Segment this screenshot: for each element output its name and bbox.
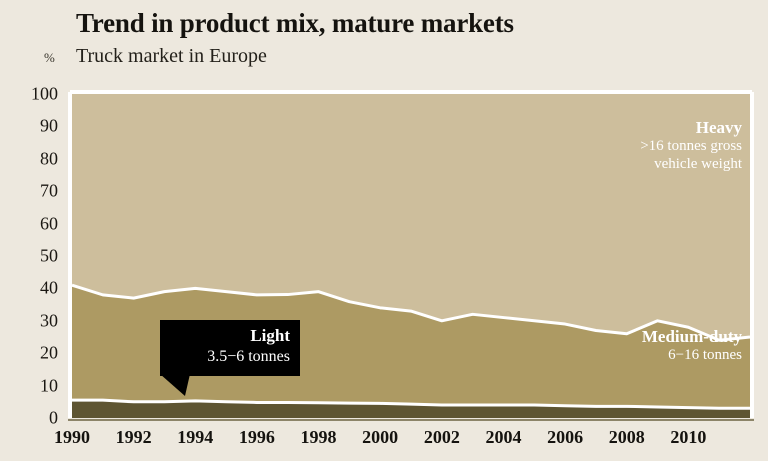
y-axis-tick-label: 20 [14,343,58,364]
x-axis-tick-label: 2006 [547,427,583,448]
chart-container: Trend in product mix, mature markets Tru… [0,0,768,461]
y-axis-tick-label: 100 [14,84,58,105]
callout-light: Light 3.5−6 tonnes [160,320,300,376]
y-axis-tick-label: 50 [14,246,58,267]
series-label-medium-duty: Medium-duty 6−16 tonnes [642,327,742,365]
y-axis-tick-label: 0 [14,408,58,429]
callout-tail-icon [160,374,200,398]
x-axis-tick-label: 2000 [362,427,398,448]
y-axis-tick-label: 10 [14,375,58,396]
series-label-heavy-desc-1: >16 tonnes gross [640,138,742,156]
x-axis-tick-label: 1992 [116,427,152,448]
x-axis-tick-label: 2004 [485,427,521,448]
callout-light-name: Light [160,325,290,347]
x-axis-tick-label: 2008 [609,427,645,448]
y-axis-tick-label: 30 [14,310,58,331]
x-axis-tick-label: 2002 [424,427,460,448]
stacked-area-plot [0,0,768,461]
callout-light-desc: 3.5−6 tonnes [160,347,290,368]
series-label-heavy: Heavy >16 tonnes gross vehicle weight [640,118,742,173]
series-label-heavy-name: Heavy [640,118,742,138]
y-axis-tick-label: 40 [14,278,58,299]
x-axis-tick-label: 1996 [239,427,275,448]
y-axis-tick-label: 60 [14,213,58,234]
series-label-medium-duty-desc-1: 6−16 tonnes [642,347,742,365]
y-axis-tick-label: 80 [14,148,58,169]
x-axis-tick-label: 1990 [54,427,90,448]
series-label-medium-duty-name: Medium-duty [642,327,742,347]
x-axis-tick-label: 2010 [670,427,706,448]
series-label-heavy-desc-2: vehicle weight [640,156,742,174]
x-axis-tick-label: 1998 [301,427,337,448]
x-axis-tick-label: 1994 [177,427,213,448]
y-axis-tick-label: 90 [14,116,58,137]
y-axis-tick-label: 70 [14,181,58,202]
